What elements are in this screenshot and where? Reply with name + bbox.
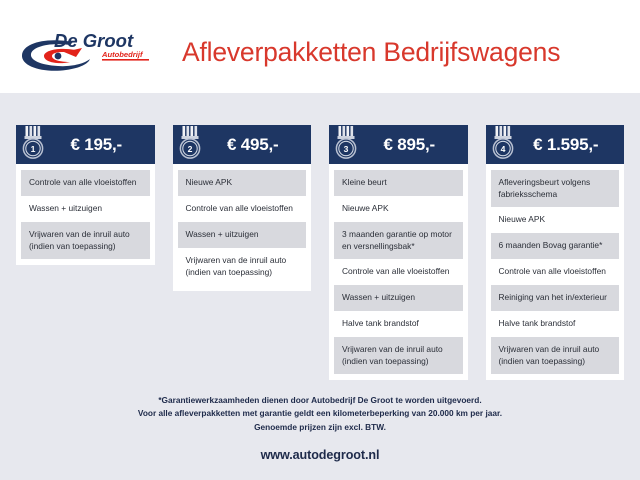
feature-item: Afleveringsbeurt volgens fabrieksschema	[491, 170, 620, 207]
disclaimer-line-2: Voor alle afleverpakketten met garantie …	[0, 407, 640, 420]
package-column-1: 1 € 195,- Controle van alle vloeistoffen…	[16, 125, 155, 265]
feature-item: Controle van alle vloeistoffen	[21, 170, 150, 196]
page-title: Afleverpakketten Bedrijfswagens	[182, 36, 560, 68]
package-columns: 1 € 195,- Controle van alle vloeistoffen…	[0, 125, 640, 380]
feature-text: Vrijwaren van de inruil auto (indien van…	[499, 344, 613, 367]
feature-item: Controle van alle vloeistoffen	[178, 196, 307, 222]
feature-card-4: Afleveringsbeurt volgens fabrieksschema …	[486, 164, 625, 380]
feature-card-1: Controle van alle vloeistoffen Wassen + …	[16, 164, 155, 265]
medal-rank-label: 4	[500, 144, 505, 154]
feature-text: Controle van alle vloeistoffen	[342, 266, 449, 278]
feature-text: Reiniging van het in/exterieur	[499, 292, 607, 304]
feature-item: 6 maanden Bovag garantie*	[491, 233, 620, 259]
feature-item: Halve tank brandstof	[491, 311, 620, 337]
package-price-1: € 195,-	[46, 135, 149, 155]
feature-text: Nieuwe APK	[499, 214, 546, 226]
feature-card-2: Nieuwe APK Controle van alle vloeistoffe…	[173, 164, 312, 291]
medal-rank-label: 2	[187, 144, 192, 154]
feature-item: Halve tank brandstof	[334, 311, 463, 337]
medal-icon: 1	[20, 126, 46, 160]
feature-text: Controle van alle vloeistoffen	[29, 177, 136, 189]
feature-item: Controle van alle vloeistoffen	[334, 259, 463, 285]
feature-item: Vrijwaren van de inruil auto (indien van…	[491, 337, 620, 374]
svg-text:Autobedrijf: Autobedrijf	[101, 50, 144, 59]
feature-text: Wassen + uitzuigen	[29, 203, 102, 215]
disclaimer-line-1: *Garantiewerkzaamheden dienen door Autob…	[0, 394, 640, 407]
feature-text: Afleveringsbeurt volgens fabrieksschema	[499, 177, 613, 200]
feature-item: Nieuwe APK	[178, 170, 307, 196]
page-header: De Groot Autobedrijf Afleverpakketten Be…	[0, 0, 640, 93]
feature-item: Wassen + uitzuigen	[178, 222, 307, 248]
svg-text:De Groot: De Groot	[54, 30, 134, 51]
price-header-4[interactable]: 4 € 1.595,-	[486, 125, 625, 164]
feature-text: Vrijwaren van de inruil auto (indien van…	[186, 255, 300, 278]
package-price-4: € 1.595,-	[516, 135, 619, 155]
package-column-4: 4 € 1.595,- Afleveringsbeurt volgens fab…	[486, 125, 625, 380]
medal-icon: 3	[333, 126, 359, 160]
medal-rank-label: 3	[344, 144, 349, 154]
company-logo[interactable]: De Groot Autobedrijf	[18, 26, 168, 76]
price-header-1[interactable]: 1 € 195,-	[16, 125, 155, 164]
feature-text: Vrijwaren van de inruil auto (indien van…	[29, 229, 143, 252]
swoosh-logo-icon: De Groot Autobedrijf	[18, 26, 168, 76]
website-link[interactable]: www.autodegroot.nl	[0, 448, 640, 462]
page-root: De Groot Autobedrijf Afleverpakketten Be…	[0, 0, 640, 480]
medal-icon: 4	[490, 126, 516, 160]
medal-icon: 2	[177, 126, 203, 160]
package-price-2: € 495,-	[203, 135, 306, 155]
feature-text: Controle van alle vloeistoffen	[186, 203, 293, 215]
feature-text: Wassen + uitzuigen	[342, 292, 415, 304]
feature-item: Vrijwaren van de inruil auto (indien van…	[334, 337, 463, 374]
feature-item: 3 maanden garantie op motor en versnelli…	[334, 222, 463, 259]
feature-text: Nieuwe APK	[186, 177, 233, 189]
price-header-3[interactable]: 3 € 895,-	[329, 125, 468, 164]
feature-item: Vrijwaren van de inruil auto (indien van…	[178, 248, 307, 285]
feature-text: Wassen + uitzuigen	[186, 229, 259, 241]
feature-item: Wassen + uitzuigen	[334, 285, 463, 311]
feature-item: Nieuwe APK	[334, 196, 463, 222]
feature-text: Controle van alle vloeistoffen	[499, 266, 606, 278]
feature-text: Halve tank brandstof	[342, 318, 419, 330]
feature-text: Vrijwaren van de inruil auto (indien van…	[342, 344, 456, 367]
feature-item: Nieuwe APK	[491, 207, 620, 233]
feature-item: Vrijwaren van de inruil auto (indien van…	[21, 222, 150, 259]
feature-text: Kleine beurt	[342, 177, 387, 189]
feature-card-3: Kleine beurt Nieuwe APK 3 maanden garant…	[329, 164, 468, 380]
page-footer: *Garantiewerkzaamheden dienen door Autob…	[0, 394, 640, 462]
feature-item: Wassen + uitzuigen	[21, 196, 150, 222]
feature-text: Halve tank brandstof	[499, 318, 576, 330]
package-price-3: € 895,-	[359, 135, 462, 155]
feature-text: 6 maanden Bovag garantie*	[499, 240, 603, 252]
feature-item: Reiniging van het in/exterieur	[491, 285, 620, 311]
price-header-2[interactable]: 2 € 495,-	[173, 125, 312, 164]
feature-text: Nieuwe APK	[342, 203, 389, 215]
feature-item: Controle van alle vloeistoffen	[491, 259, 620, 285]
feature-text: 3 maanden garantie op motor en versnelli…	[342, 229, 456, 252]
package-column-3: 3 € 895,- Kleine beurt Nieuwe APK 3 maan…	[329, 125, 468, 380]
feature-item: Kleine beurt	[334, 170, 463, 196]
disclaimer-line-3: Genoemde prijzen zijn excl. BTW.	[0, 421, 640, 434]
medal-rank-label: 1	[31, 144, 36, 154]
package-column-2: 2 € 495,- Nieuwe APK Controle van alle v…	[173, 125, 312, 291]
